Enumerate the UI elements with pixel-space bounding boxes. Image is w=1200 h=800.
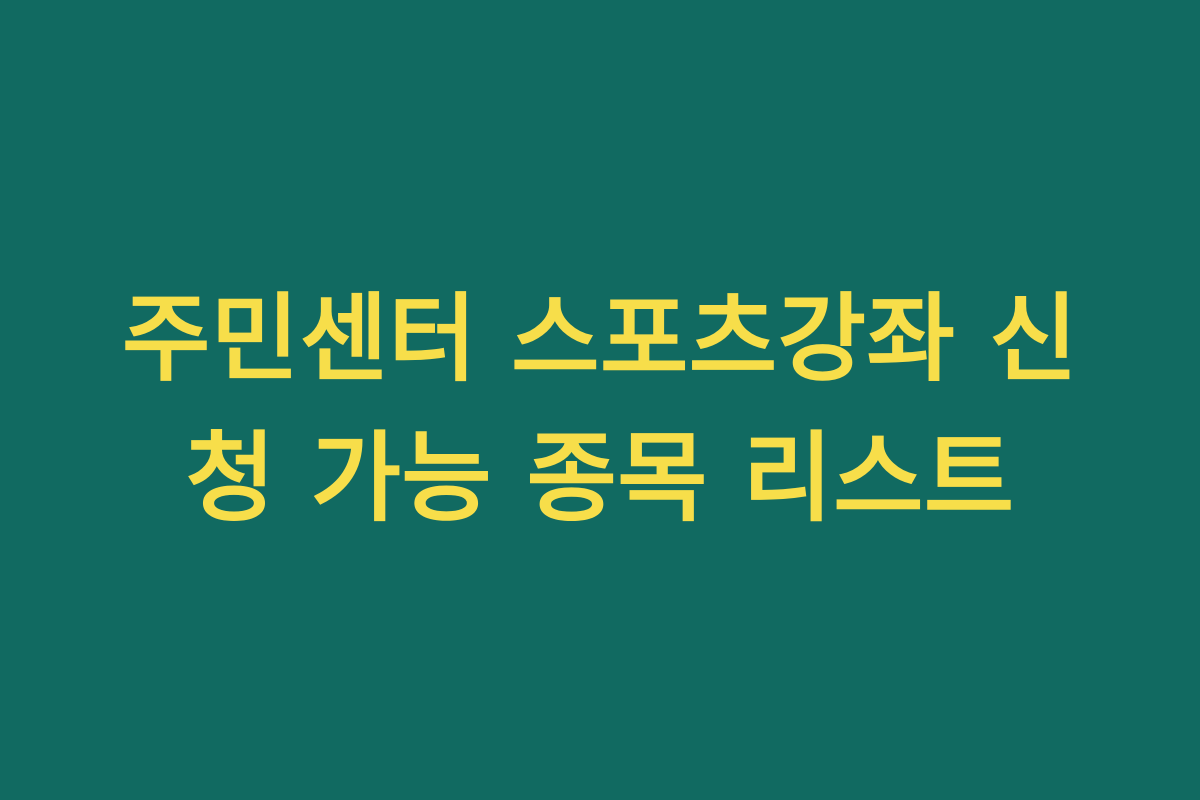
page-title: 주민센터 스포츠강좌 신 청 가능 종목 리스트	[70, 270, 1130, 549]
title-banner: 주민센터 스포츠강좌 신 청 가능 종목 리스트	[0, 0, 1200, 800]
headline-line-2: 청 가능 종목 리스트	[70, 409, 1130, 550]
headline-line-1: 주민센터 스포츠강좌 신	[70, 270, 1130, 408]
